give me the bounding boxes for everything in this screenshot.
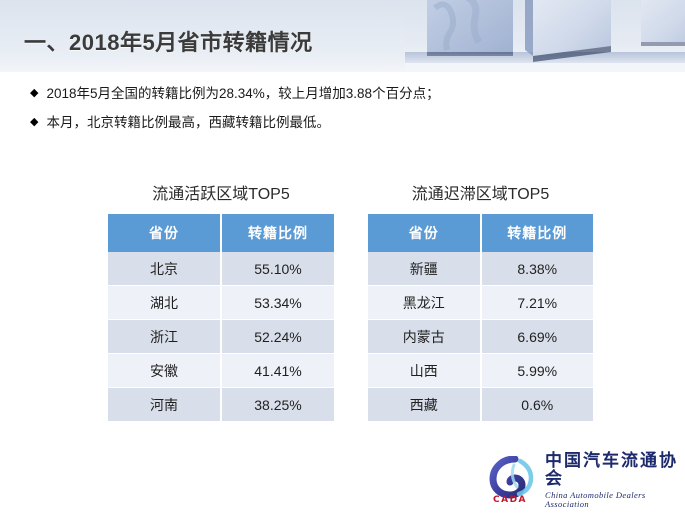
cell-province: 河南: [108, 388, 221, 422]
cada-logo: CADA 中国汽车流通协会 China Automobile Dealers A…: [489, 455, 679, 507]
column-header-ratio: 转籍比例: [481, 214, 594, 252]
cell-province: 内蒙古: [368, 320, 481, 354]
cell-province: 北京: [108, 252, 221, 286]
column-header-province: 省份: [368, 214, 481, 252]
table-row: 湖北 53.34%: [108, 286, 334, 320]
bullet-text: 本月，北京转籍比例最高，西藏转籍比例最低。: [46, 113, 650, 133]
header-cubes-decoration: [405, 0, 685, 72]
cell-province: 安徽: [108, 354, 221, 388]
bullet-text: 2018年5月全国的转籍比例为28.34%，较上月增加3.88个百分点；: [46, 84, 650, 104]
cell-province: 浙江: [108, 320, 221, 354]
logo-text: 中国汽车流通协会 China Automobile Dealers Associ…: [545, 453, 679, 509]
cell-ratio: 0.6%: [481, 388, 594, 422]
logo-name-cn: 中国汽车流通协会: [545, 453, 679, 489]
table-row: 内蒙古 6.69%: [368, 320, 593, 354]
cell-province: 黑龙江: [368, 286, 481, 320]
cell-ratio: 6.69%: [481, 320, 594, 354]
cell-ratio: 55.10%: [221, 252, 334, 286]
cell-ratio: 7.21%: [481, 286, 594, 320]
cell-ratio: 53.34%: [221, 286, 334, 320]
data-table-active-regions: 省份 转籍比例 北京 55.10% 湖北 53.34% 浙江 52.24% 安徽…: [108, 214, 334, 422]
table-block-lagging-regions: 流通迟滞区域TOP5 省份 转籍比例 新疆 8.38% 黑龙江 7.21% 内蒙…: [368, 180, 593, 422]
table-row: 河南 38.25%: [108, 388, 334, 422]
table-row: 西藏 0.6%: [368, 388, 593, 422]
column-header-ratio: 转籍比例: [221, 214, 334, 252]
cada-swirl-icon: CADA: [489, 456, 541, 506]
cell-ratio: 8.38%: [481, 252, 594, 286]
table-block-active-regions: 流通活跃区域TOP5 省份 转籍比例 北京 55.10% 湖北 53.34% 浙…: [108, 180, 334, 422]
table-title: 流通迟滞区域TOP5: [368, 180, 593, 204]
table-header-row: 省份 转籍比例: [368, 214, 593, 252]
cell-province: 山西: [368, 354, 481, 388]
table-row: 黑龙江 7.21%: [368, 286, 593, 320]
cell-ratio: 41.41%: [221, 354, 334, 388]
list-item: ◆ 本月，北京转籍比例最高，西藏转籍比例最低。: [30, 113, 650, 133]
table-header-row: 省份 转籍比例: [108, 214, 334, 252]
diamond-bullet-icon: ◆: [30, 84, 38, 103]
table-row: 北京 55.10%: [108, 252, 334, 286]
slide-header-band: 一、2018年5月省市转籍情况: [0, 0, 685, 72]
table-row: 新疆 8.38%: [368, 252, 593, 286]
bullet-list: ◆ 2018年5月全国的转籍比例为28.34%，较上月增加3.88个百分点； ◆…: [30, 84, 650, 143]
cell-province: 湖北: [108, 286, 221, 320]
table-row: 山西 5.99%: [368, 354, 593, 388]
column-header-province: 省份: [108, 214, 221, 252]
cell-ratio: 52.24%: [221, 320, 334, 354]
logo-name-en: China Automobile Dealers Association: [545, 491, 679, 509]
table-row: 浙江 52.24%: [108, 320, 334, 354]
cell-ratio: 5.99%: [481, 354, 594, 388]
cell-province: 新疆: [368, 252, 481, 286]
page-title: 一、2018年5月省市转籍情况: [24, 25, 313, 57]
logo-abbr: CADA: [493, 495, 527, 505]
cell-ratio: 38.25%: [221, 388, 334, 422]
data-table-lagging-regions: 省份 转籍比例 新疆 8.38% 黑龙江 7.21% 内蒙古 6.69% 山西 …: [368, 214, 593, 422]
diamond-bullet-icon: ◆: [30, 113, 38, 132]
table-row: 安徽 41.41%: [108, 354, 334, 388]
table-title: 流通活跃区域TOP5: [108, 180, 334, 204]
list-item: ◆ 2018年5月全国的转籍比例为28.34%，较上月增加3.88个百分点；: [30, 84, 650, 104]
cell-province: 西藏: [368, 388, 481, 422]
